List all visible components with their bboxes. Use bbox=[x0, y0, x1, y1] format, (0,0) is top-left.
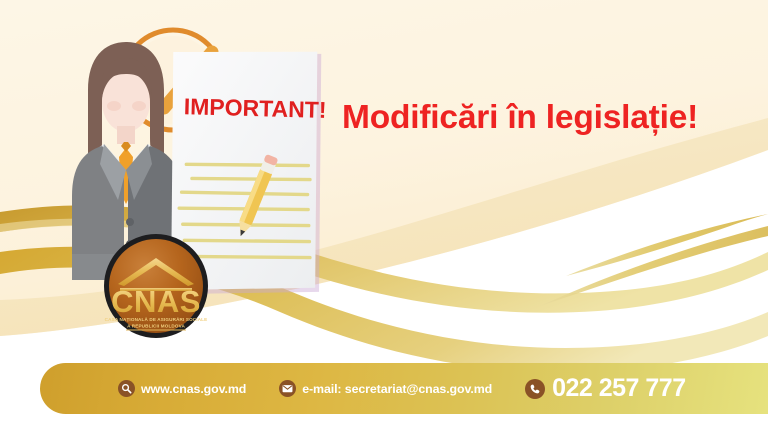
logo-subtitle-line2: A REPUBLICII MOLDOVA bbox=[127, 324, 185, 329]
document-stamp-text: IMPORTANT! bbox=[184, 93, 327, 123]
cnas-logo: CNAS CASA NAȚIONALĂ DE ASIGURĂRI SOCIALE… bbox=[96, 232, 216, 340]
footer-website[interactable]: www.cnas.gov.md bbox=[118, 380, 246, 397]
contact-footer-bar: www.cnas.gov.md e-mail: secretariat@cnas… bbox=[40, 363, 768, 414]
footer-website-text: www.cnas.gov.md bbox=[141, 382, 246, 396]
logo-subtitle-line1: CASA NAȚIONALĂ DE ASIGURĂRI SOCIALE bbox=[105, 316, 208, 322]
envelope-icon bbox=[279, 380, 296, 397]
search-icon bbox=[118, 380, 135, 397]
footer-phone[interactable]: 022 257 777 bbox=[525, 374, 686, 403]
promo-banner: IMPORTANT! bbox=[0, 0, 768, 428]
phone-icon bbox=[525, 379, 545, 399]
headline-title: Modificări în legislație! bbox=[342, 100, 742, 137]
logo-acronym: CNAS bbox=[111, 284, 201, 319]
footer-email-text: e-mail: secretariat@cnas.gov.md bbox=[302, 382, 492, 396]
footer-phone-text: 022 257 777 bbox=[552, 374, 686, 403]
footer-email[interactable]: e-mail: secretariat@cnas.gov.md bbox=[279, 380, 492, 397]
